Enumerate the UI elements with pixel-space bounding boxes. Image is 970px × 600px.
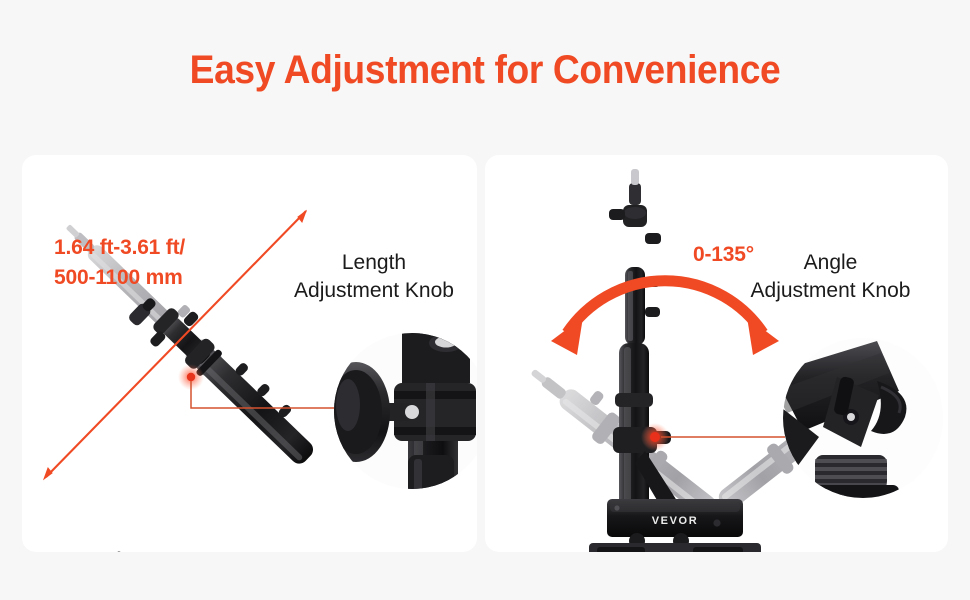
infographic-page: Easy Adjustment for Convenience (0, 0, 970, 600)
length-knob-label-line-1: Length (274, 249, 474, 277)
length-measure-callout: 1.64 ft-3.61 ft/ 500-1100 mm (54, 233, 185, 293)
length-measure-line-2: 500-1100 mm (54, 263, 185, 293)
angle-knob-inset (753, 338, 943, 511)
panel-angle-adjustment: VEVOR (485, 155, 948, 552)
length-knob-label-line-2: Adjustment Knob (274, 277, 474, 305)
product-boom-arm: VEVOR (39, 281, 326, 552)
arm-yoke-bracket (80, 550, 140, 552)
length-knob-label: Length Adjustment Knob (274, 249, 474, 306)
panel-length-adjustment: VEVOR (22, 155, 477, 552)
svg-text:VEVOR: VEVOR (652, 515, 699, 527)
angle-panel-stage: VEVOR (485, 155, 948, 552)
length-panel-stage: VEVOR (22, 155, 477, 552)
angle-knob-label-line-2: Adjustment Knob (723, 277, 938, 305)
product-base-plate-right: VEVOR (607, 499, 743, 537)
length-panel-illustration: VEVOR (22, 155, 477, 552)
length-measure-line-1: 1.64 ft-3.61 ft/ (54, 233, 185, 263)
angle-panel-illustration: VEVOR (485, 155, 948, 552)
angle-knob-label-line-1: Angle (723, 249, 938, 277)
angle-knob-highlight-leader (641, 423, 785, 451)
angle-knob-label: Angle Adjustment Knob (723, 249, 938, 306)
length-knob-inset (322, 331, 477, 499)
page-title: Easy Adjustment for Convenience (34, 48, 936, 92)
